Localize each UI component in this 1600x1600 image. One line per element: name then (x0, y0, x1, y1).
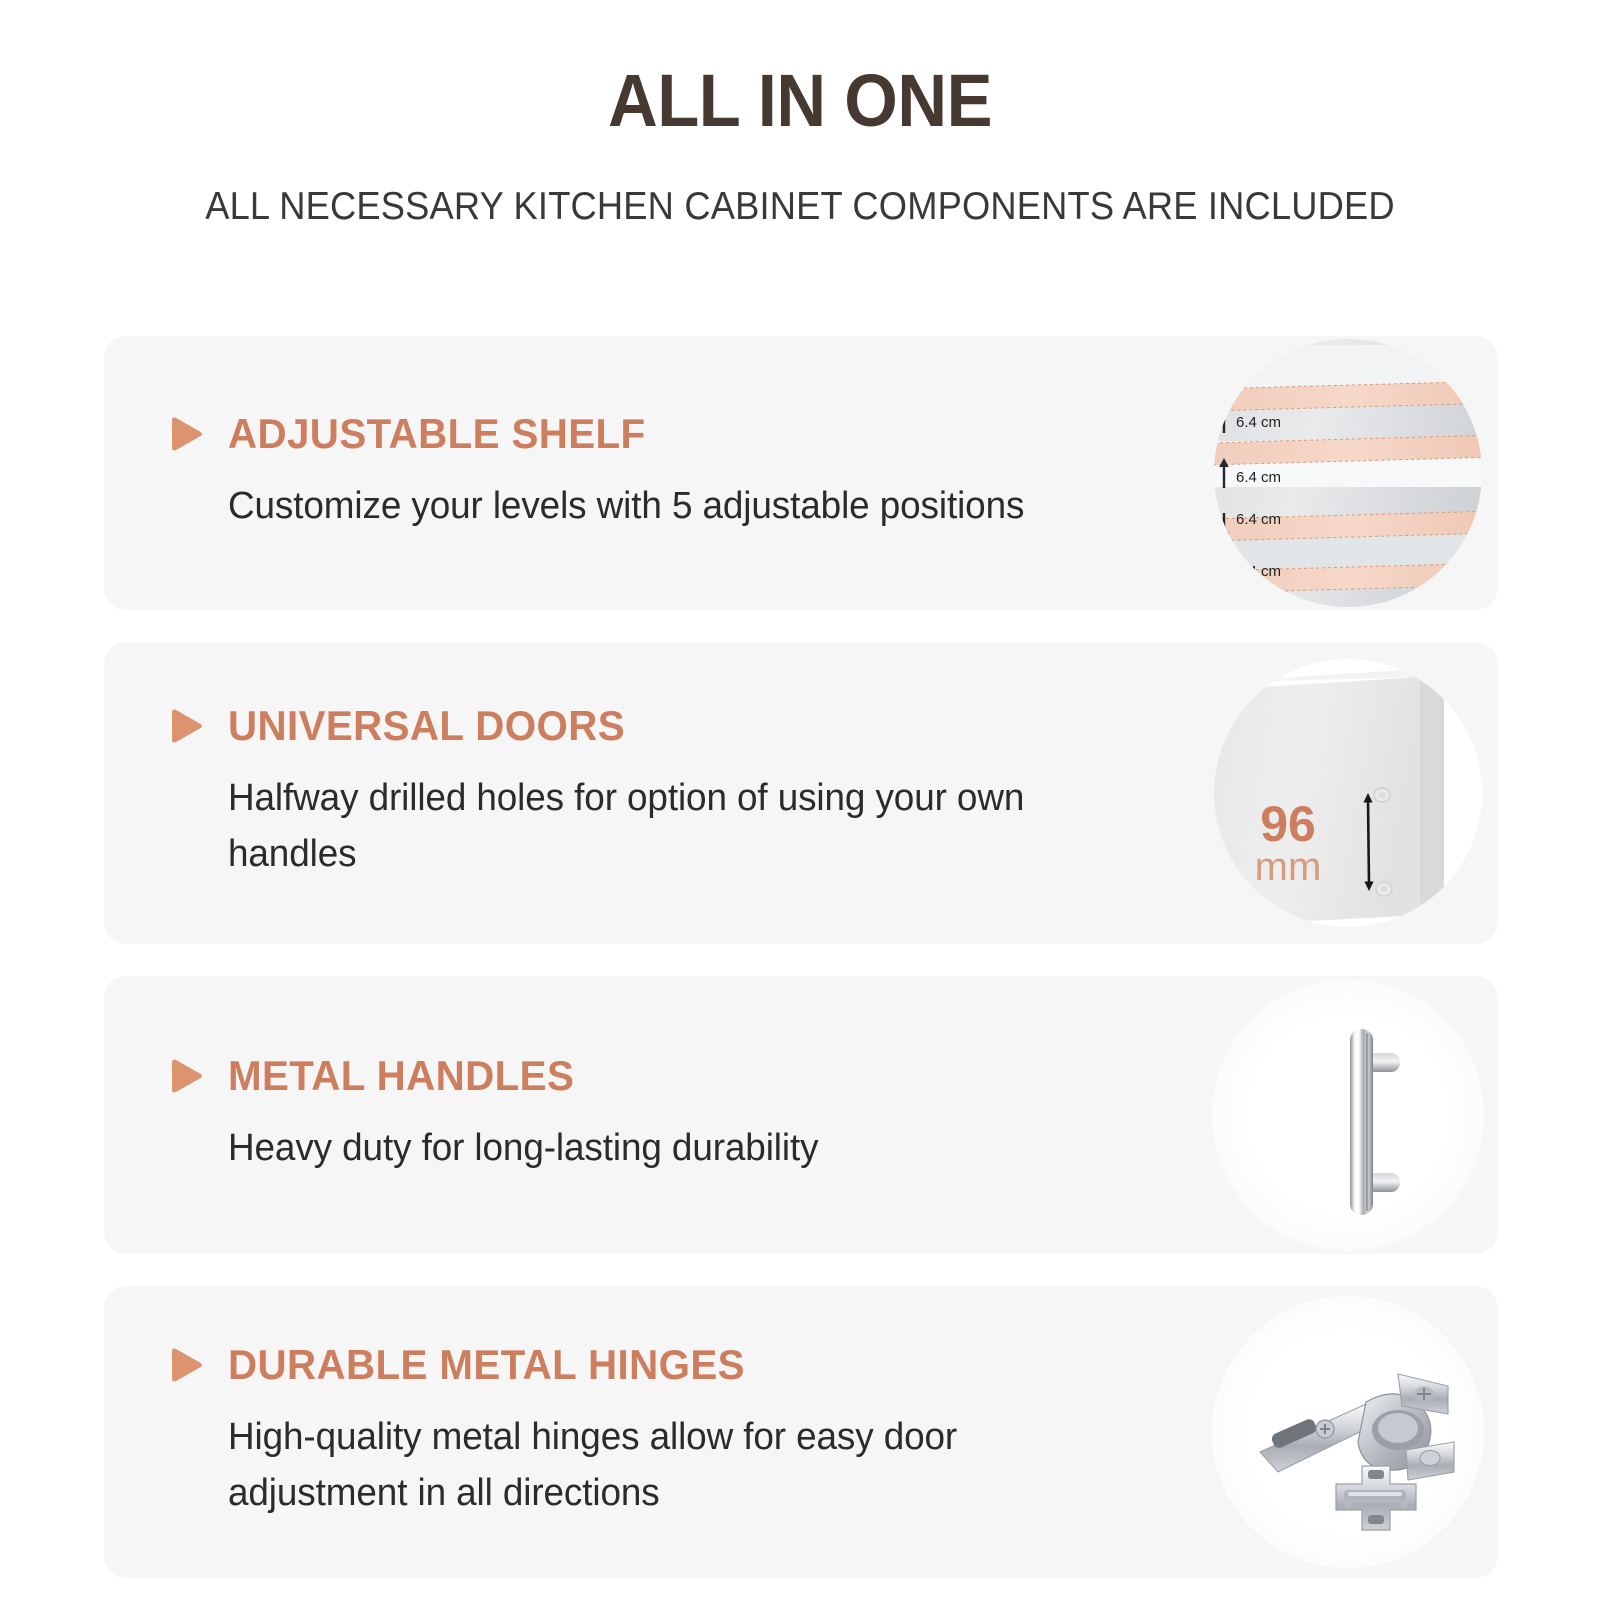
card-title-row: DURABLE METAL HINGES (164, 1343, 1174, 1387)
metal-hinge-photo (1198, 1286, 1498, 1578)
card-title: METAL HANDLES (228, 1054, 574, 1098)
feature-card-metal-handles: METAL HANDLES Heavy duty for long-lastin… (104, 976, 1498, 1254)
card-description: Halfway drilled holes for option of usin… (228, 770, 1101, 882)
feature-card-adjustable-shelf: ADJUSTABLE SHELF Customize your levels w… (104, 336, 1498, 610)
triangle-right-bullet-icon (164, 413, 206, 455)
triangle-right-bullet-icon (164, 705, 206, 747)
card-title: ADJUSTABLE SHELF (228, 412, 646, 456)
card-text-block: ADJUSTABLE SHELF Customize your levels w… (164, 336, 1174, 610)
page-subtitle: ALL NECESSARY KITCHEN CABINET COMPONENTS… (56, 186, 1544, 229)
card-description: Heavy duty for long-lasting durability (228, 1120, 1101, 1176)
triangle-right-bullet-icon (164, 1344, 206, 1386)
shelf-measure-label-2: 6.4 cm (1236, 469, 1281, 486)
header: ALL IN ONE ALL NECESSARY KITCHEN CABINET… (0, 0, 1600, 229)
shelf-measure-label-3: 6.4 cm (1236, 511, 1281, 528)
card-title-row: ADJUSTABLE SHELF (164, 412, 1174, 456)
card-text-block: DURABLE METAL HINGES High-quality metal … (164, 1286, 1174, 1578)
all-in-one-feature-panel: ALL IN ONE ALL NECESSARY KITCHEN CABINET… (0, 0, 1600, 1600)
page-title: ALL IN ONE (56, 64, 1544, 138)
card-text-block: METAL HANDLES Heavy duty for long-lastin… (164, 976, 1174, 1254)
card-title-row: METAL HANDLES (164, 1054, 1174, 1098)
metal-bar-handle-photo (1198, 976, 1498, 1254)
feature-card-list: ADJUSTABLE SHELF Customize your levels w… (104, 336, 1498, 1600)
card-title-row: UNIVERSAL DOORS (164, 704, 1174, 748)
feature-card-durable-metal-hinges: DURABLE METAL HINGES High-quality metal … (104, 1286, 1498, 1578)
feature-card-universal-doors: UNIVERSAL DOORS Halfway drilled holes fo… (104, 642, 1498, 944)
card-title: UNIVERSAL DOORS (228, 704, 625, 748)
card-description: High-quality metal hinges allow for easy… (228, 1409, 1101, 1521)
card-description: Customize your levels with 5 adjustable … (228, 478, 1101, 534)
shelf-measure-label-1: 6.4 cm (1236, 414, 1281, 431)
adjustable-shelf-photo: 6.4 cm 6.4 cm 6.4 cm 6.4 cm (1198, 336, 1498, 610)
card-title: DURABLE METAL HINGES (228, 1343, 745, 1387)
door-hole-spacing-value: 96 (1260, 796, 1316, 852)
card-text-block: UNIVERSAL DOORS Halfway drilled holes fo… (164, 642, 1174, 944)
triangle-right-bullet-icon (164, 1055, 206, 1097)
cabinet-door-photo: 96 mm (1198, 643, 1498, 943)
shelf-measure-label-4: 6.4 cm (1236, 563, 1281, 580)
door-hole-spacing-unit: mm (1255, 845, 1322, 889)
